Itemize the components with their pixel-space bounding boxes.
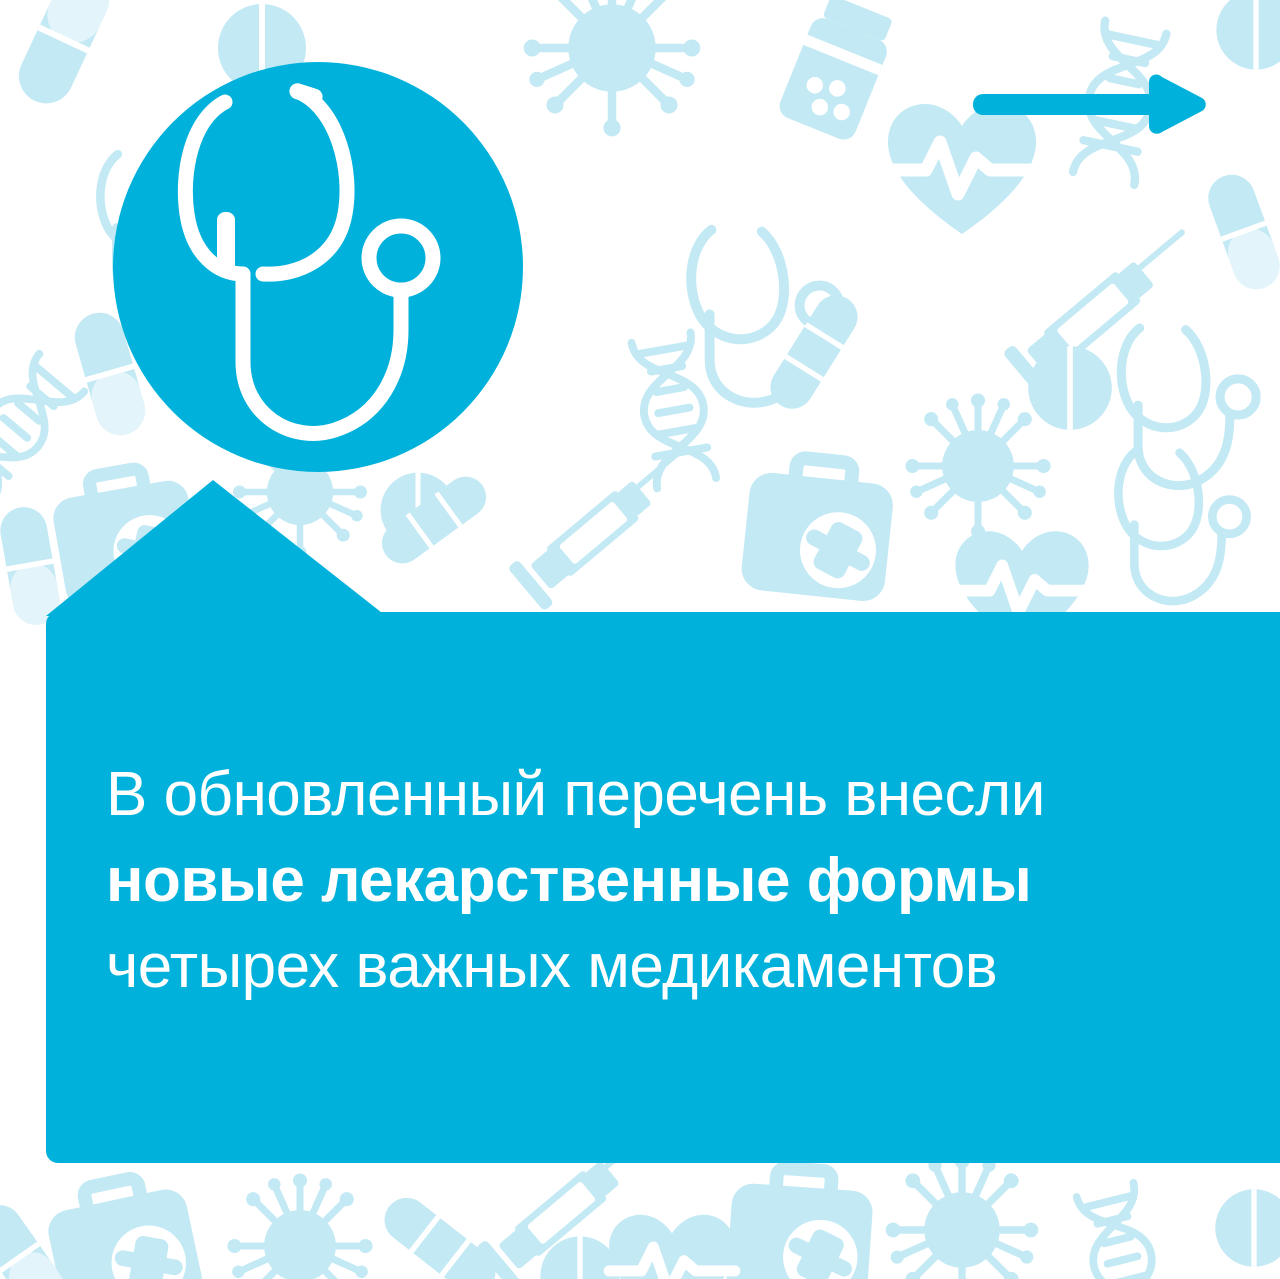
stethoscope-badge bbox=[113, 62, 523, 472]
headline-line-1: В обновленный перечень внесли bbox=[106, 752, 1236, 838]
speech-bubble-tail bbox=[46, 478, 386, 618]
headline: В обновленный перечень внесли новые лека… bbox=[106, 752, 1236, 1010]
arrow-right-icon[interactable] bbox=[973, 74, 1207, 134]
headline-line-3: четырех важных медикаментов bbox=[106, 924, 1236, 1010]
stethoscope-icon bbox=[113, 62, 523, 472]
headline-line-2: новые лекарственные формы bbox=[106, 838, 1236, 924]
poster-canvas: В обновленный перечень внесли новые лека… bbox=[0, 0, 1280, 1279]
